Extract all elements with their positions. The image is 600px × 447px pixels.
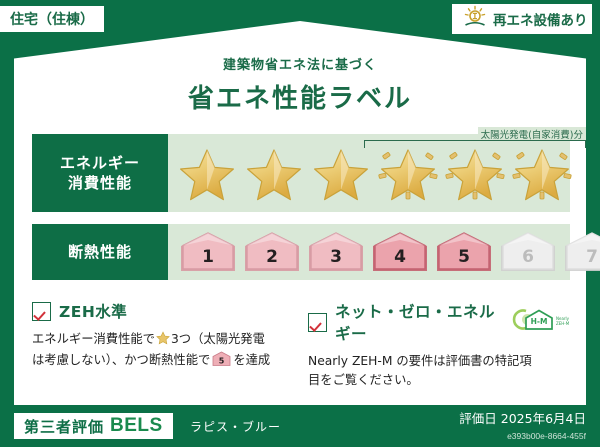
energy-label-line2: 消費性能 xyxy=(68,173,132,193)
star-solar xyxy=(444,142,506,204)
star-filled xyxy=(243,142,305,204)
page-title: 省エネ性能ラベル xyxy=(0,78,600,115)
net-zero-energy-block: ネット・ゼロ・エネルギー H-M Nearly ZEH-M Nearly ZEH… xyxy=(308,300,570,390)
insulation-level-number: 4 xyxy=(370,247,430,267)
zeh-desc-part3: は考慮しない）、かつ断熱性能で xyxy=(32,353,210,367)
third-party-eval-label: 第三者評価 xyxy=(24,416,104,437)
insulation-level-number: 7 xyxy=(562,247,600,267)
zeh-standard-block: ZEH水準 エネルギー消費性能で3つ（太陽光発電 は考慮しない）、かつ断熱性能で… xyxy=(32,300,294,373)
svg-text:H-M: H-M xyxy=(531,317,548,326)
bels-logo-box: 第三者評価 BELS xyxy=(14,413,173,439)
inline-house-icon: 5 xyxy=(212,351,231,373)
energy-label-line1: エネルギー xyxy=(60,153,140,173)
zeh-desc-part1: エネルギー消費性能で xyxy=(32,332,155,346)
insulation-level-5: 5 xyxy=(434,230,494,274)
evaluation-date-value: 2025年6月4日 xyxy=(501,411,586,426)
insulation-level-number: 6 xyxy=(498,247,558,267)
star-solar xyxy=(511,142,573,204)
net-zero-energy-header: ネット・ゼロ・エネルギー H-M Nearly ZEH-M xyxy=(308,300,570,344)
star-filled xyxy=(310,142,372,204)
insulation-level-2: 2 xyxy=(242,230,302,274)
insulation-level-number: 2 xyxy=(242,247,302,267)
energy-performance-row-label: エネルギー 消費性能 xyxy=(32,134,168,212)
label-uid: e393b00e-8664-455f xyxy=(507,431,586,441)
building-type-badge: 住宅（住棟） xyxy=(0,6,104,32)
insulation-performance-row-label: 断熱性能 xyxy=(32,224,168,280)
zeh-standard-description: エネルギー消費性能で3つ（太陽光発電 は考慮しない）、かつ断熱性能で5を達成 xyxy=(32,330,294,373)
title-subtitle: 建築物省エネ法に基づく xyxy=(0,54,600,73)
zeh-standard-title: ZEH水準 xyxy=(59,300,127,322)
zeh-desc-part2: 3つ（太陽光発電 xyxy=(171,332,265,346)
solar-annotation-bracket xyxy=(364,140,586,148)
insulation-performance-row-body: 1 2 3 4 5 xyxy=(168,224,570,280)
solar-annotation-label: 太陽光発電(自家消費)分 xyxy=(478,127,586,141)
evaluation-date: 評価日 2025年6月4日 xyxy=(459,408,586,427)
bels-logo-text: BELS xyxy=(110,415,163,437)
net-zero-energy-title: ネット・ゼロ・エネルギー xyxy=(335,300,500,344)
insulation-level-7: 7 xyxy=(562,230,600,274)
zeh-standard-header: ZEH水準 xyxy=(32,300,294,322)
insulation-label-text: 断熱性能 xyxy=(68,242,132,262)
energy-performance-label: 住宅（住棟） 再エネ設備あり 建築物省エネ法に基づく 省エネ性能ラベル xyxy=(0,0,600,447)
zeh-desc-part4: を達成 xyxy=(233,353,270,367)
insulation-performance-row: 断熱性能 1 2 3 4 xyxy=(32,224,570,280)
nze-desc-line1: Nearly ZEH-M の要件は評価書の特記項 xyxy=(308,354,532,368)
insulation-level-1: 1 xyxy=(178,230,238,274)
renewable-badge-label: 再エネ設備あり xyxy=(493,9,588,29)
renewable-equipment-badge: 再エネ設備あり xyxy=(452,4,592,34)
insulation-level-number: 1 xyxy=(178,247,238,267)
project-name: ラピス・ブルー xyxy=(190,418,281,435)
title-block: 建築物省エネ法に基づく 省エネ性能ラベル xyxy=(0,54,600,115)
star-filled xyxy=(176,142,238,204)
evaluation-date-label: 評価日 xyxy=(459,411,497,426)
insulation-level-number: 5 xyxy=(434,247,494,267)
insulation-level-6: 6 xyxy=(498,230,558,274)
net-zero-energy-checkbox[interactable] xyxy=(308,313,327,332)
zeh-m-house-logo-icon: H-M Nearly ZEH-M xyxy=(512,307,570,338)
insulation-level-3: 3 xyxy=(306,230,366,274)
inline-star-icon xyxy=(156,331,170,351)
sun-solar-icon xyxy=(462,5,488,34)
star-solar xyxy=(377,142,439,204)
insulation-level-number: 3 xyxy=(306,247,366,267)
nze-desc-line2: 目をご覧ください。 xyxy=(308,373,419,387)
insulation-level-4: 4 xyxy=(370,230,430,274)
zeh-standard-checkbox[interactable] xyxy=(32,302,51,321)
net-zero-energy-description: Nearly ZEH-M の要件は評価書の特記項 目をご覧ください。 xyxy=(308,352,570,390)
building-type-badge-label: 住宅（住棟） xyxy=(10,9,94,29)
svg-text:ZEH-M: ZEH-M xyxy=(556,321,570,326)
svg-text:5: 5 xyxy=(219,357,225,366)
insulation-level-scale: 1 2 3 4 5 xyxy=(168,224,570,280)
